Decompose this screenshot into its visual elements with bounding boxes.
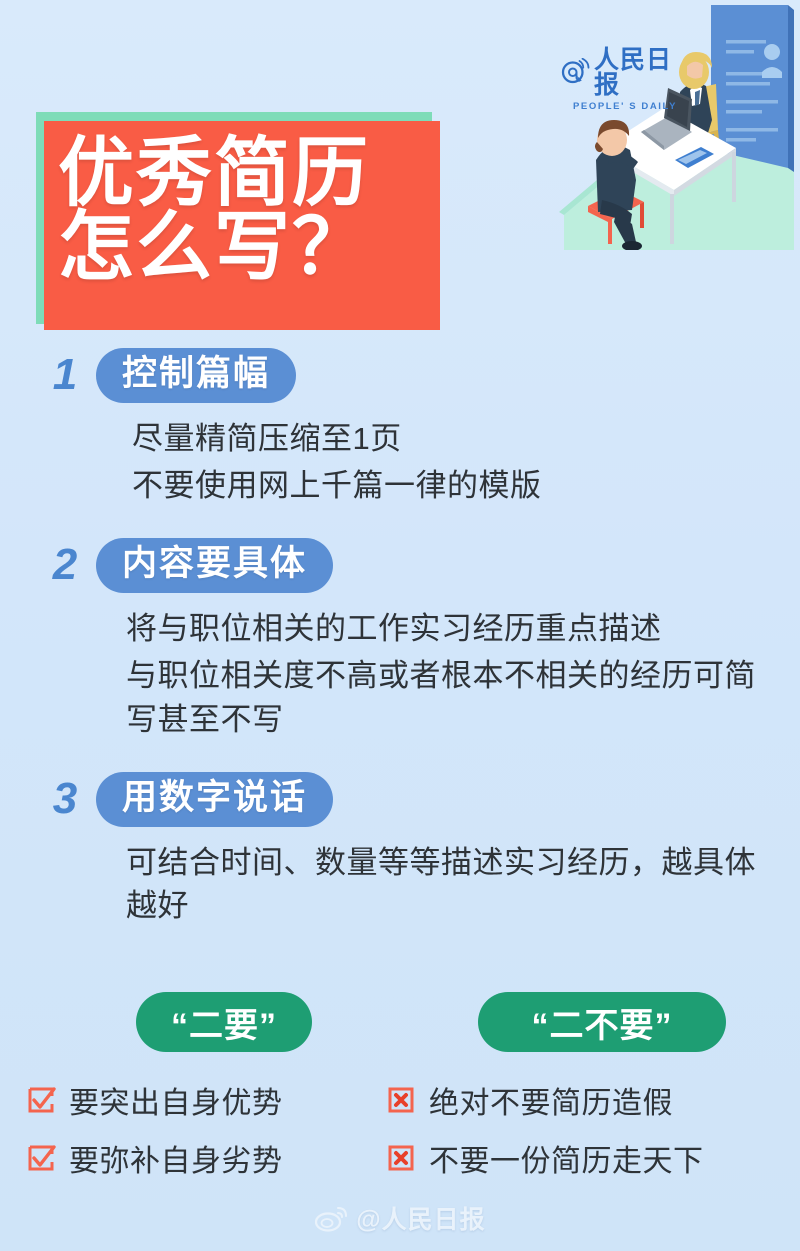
section-1-line-2: 不要使用网上千篇一律的模版 [132, 464, 764, 507]
title-text: 优秀简历 怎么写？ [44, 121, 440, 330]
section-3-heading: 用数字说话 [96, 772, 333, 827]
at-microphone-icon [560, 58, 590, 88]
brand-name-cn: 人民日报 [594, 48, 690, 98]
summary-pill-row: “二要” “二不要” [0, 992, 800, 1056]
section-3: 3 用数字说话 可结合时间、数量等等描述实习经历，越具体越好 [0, 772, 800, 932]
dont-pill: “二不要” [478, 992, 726, 1052]
section-1-header: 1 控制篇幅 [0, 348, 800, 403]
footer-handle: @人民日报 [356, 1200, 485, 1236]
title-line-1: 优秀简历 [58, 137, 440, 211]
section-1-number: 1 [48, 353, 82, 397]
section-2-line-2: 与职位相关度不高或者根本不相关的经历可简写甚至不写 [126, 654, 776, 741]
weibo-icon [314, 1204, 348, 1232]
section-3-line-1: 可结合时间、数量等等描述实习经历，越具体越好 [126, 841, 772, 928]
dont-item-2-label: 不要一份简历走天下 [429, 1136, 704, 1180]
checkbox-crossed-icon [386, 1143, 416, 1173]
do-pill: “二要” [136, 992, 312, 1052]
infographic-poster: 人民日报 PEOPLE' S DAILY 优秀简历 怎么写？ 1 控制篇幅 尽量… [0, 0, 800, 1251]
section-1-line-1: 尽量精简压缩至1页 [132, 417, 764, 460]
section-3-number: 3 [48, 777, 82, 821]
do-item-1: 要突出自身优势 [26, 1078, 386, 1122]
interview-illustration [504, 0, 794, 250]
section-3-header: 3 用数字说话 [0, 772, 800, 827]
section-1-heading: 控制篇幅 [96, 348, 296, 403]
section-1: 1 控制篇幅 尽量精简压缩至1页 不要使用网上千篇一律的模版 [0, 348, 800, 512]
section-2-heading: 内容要具体 [96, 538, 333, 593]
do-item-2-label: 要弥补自身劣势 [69, 1136, 283, 1180]
brand-name-en: PEOPLE' S DAILY [573, 101, 677, 112]
title-line-2: 怎么写？ [58, 211, 440, 285]
section-2-body: 将与职位相关的工作实习经历重点描述 与职位相关度不高或者根本不相关的经历可简写甚… [0, 607, 800, 741]
poster-title: 优秀简历 怎么写？ [36, 112, 440, 330]
checkbox-crossed-icon [386, 1085, 416, 1115]
section-2-header: 2 内容要具体 [0, 538, 800, 593]
dont-item-1: 绝对不要简历造假 [386, 1078, 776, 1122]
dont-item-1-label: 绝对不要简历造假 [429, 1078, 673, 1122]
section-3-body: 可结合时间、数量等等描述实习经历，越具体越好 [0, 841, 800, 928]
summary-checklist: 要突出自身优势 绝对不要简历造假 要弥补自身劣势 [0, 1078, 800, 1180]
section-2-line-1: 将与职位相关的工作实习经历重点描述 [126, 607, 776, 650]
footer-watermark: @人民日报 [0, 1200, 800, 1236]
section-2: 2 内容要具体 将与职位相关的工作实习经历重点描述 与职位相关度不高或者根本不相… [0, 538, 800, 745]
do-item-1-label: 要突出自身优势 [69, 1078, 283, 1122]
checkbox-checked-icon [26, 1085, 56, 1115]
section-2-number: 2 [48, 543, 82, 587]
dont-item-2: 不要一份简历走天下 [386, 1136, 776, 1180]
checkbox-checked-icon [26, 1143, 56, 1173]
brand-logo: 人民日报 PEOPLE' S DAILY [560, 48, 690, 104]
do-item-2: 要弥补自身劣势 [26, 1136, 386, 1180]
section-1-body: 尽量精简压缩至1页 不要使用网上千篇一律的模版 [0, 417, 800, 508]
